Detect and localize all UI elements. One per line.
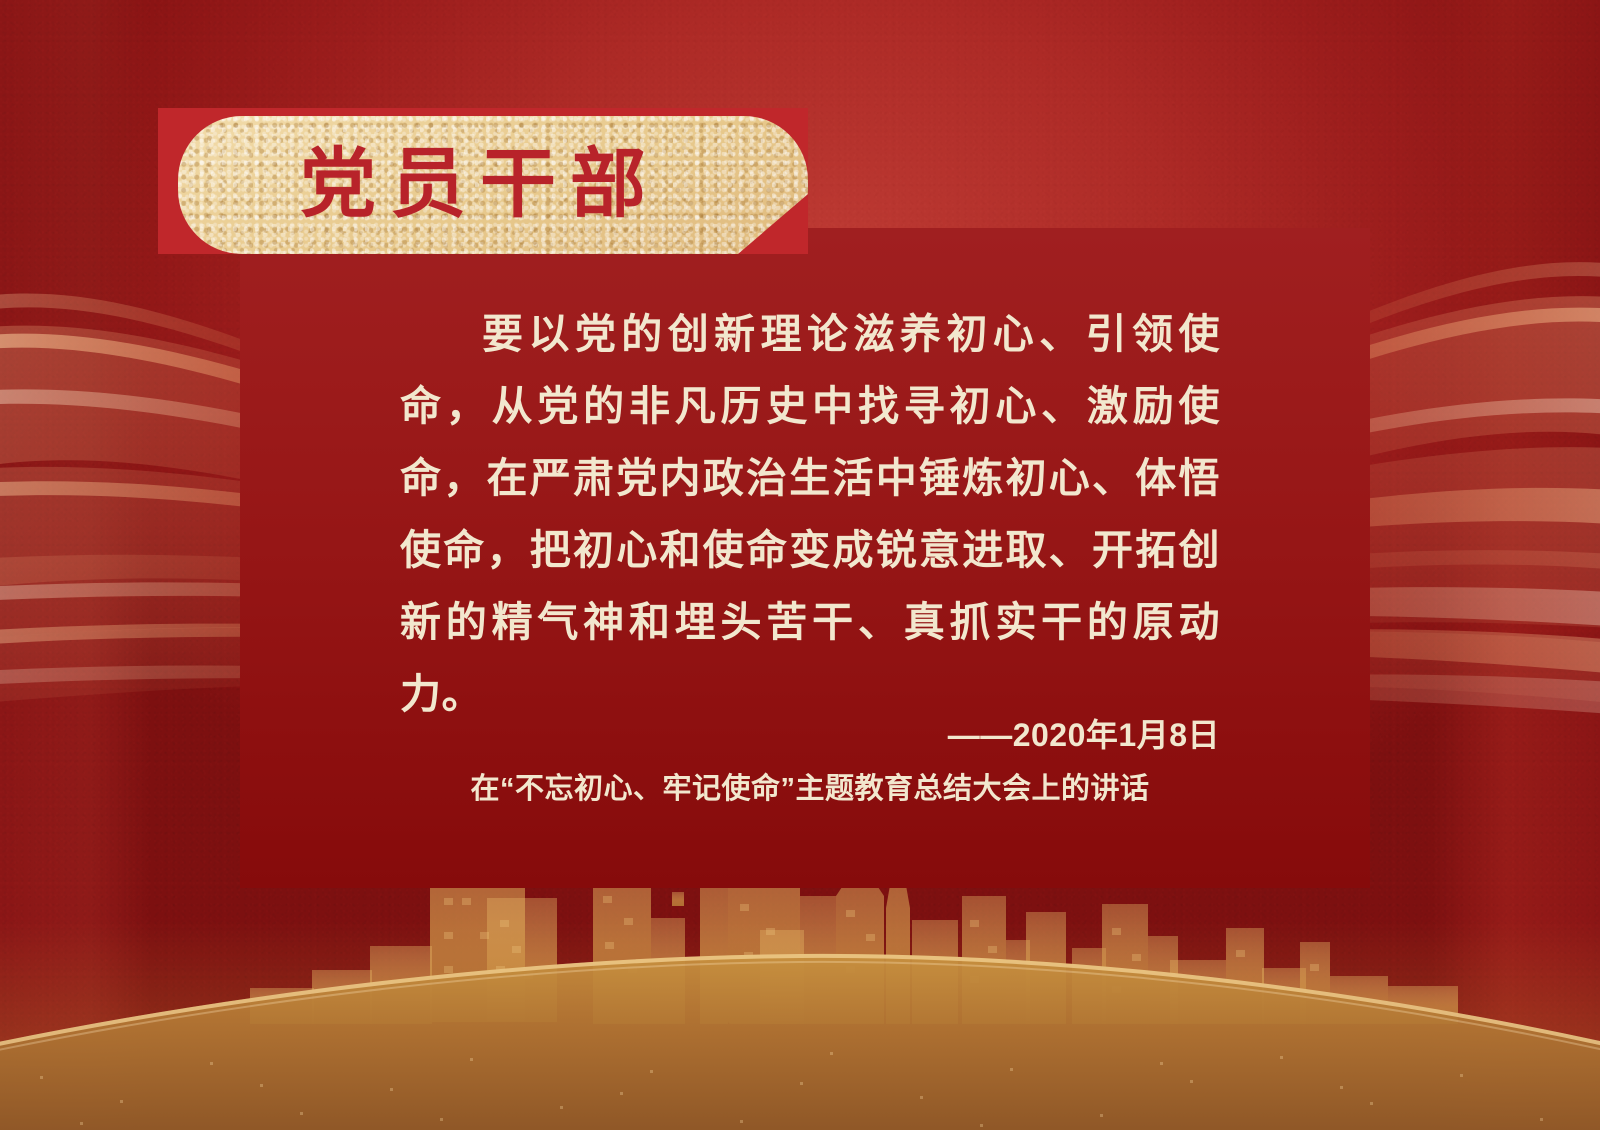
quote-card: 要以党的创新理论滋养初心、引领使命，从党的非凡历史中找寻初心、激励使命，在严肃党… <box>240 228 1370 888</box>
citation-date: ——2020年1月8日 <box>948 710 1220 756</box>
quote-body-text: 要以党的创新理论滋养初心、引领使命，从党的非凡历史中找寻初心、激励使命，在严肃党… <box>400 298 1220 730</box>
banner-title-text: 党员干部 <box>178 116 808 254</box>
citation-source: 在“不忘初心、牢记使命”主题教育总结大会上的讲话 <box>240 765 1370 807</box>
poster-root: 要以党的创新理论滋养初心、引领使命，从党的非凡历史中找寻初心、激励使命，在严肃党… <box>0 0 1600 1130</box>
title-banner: 党员干部 <box>158 108 808 254</box>
